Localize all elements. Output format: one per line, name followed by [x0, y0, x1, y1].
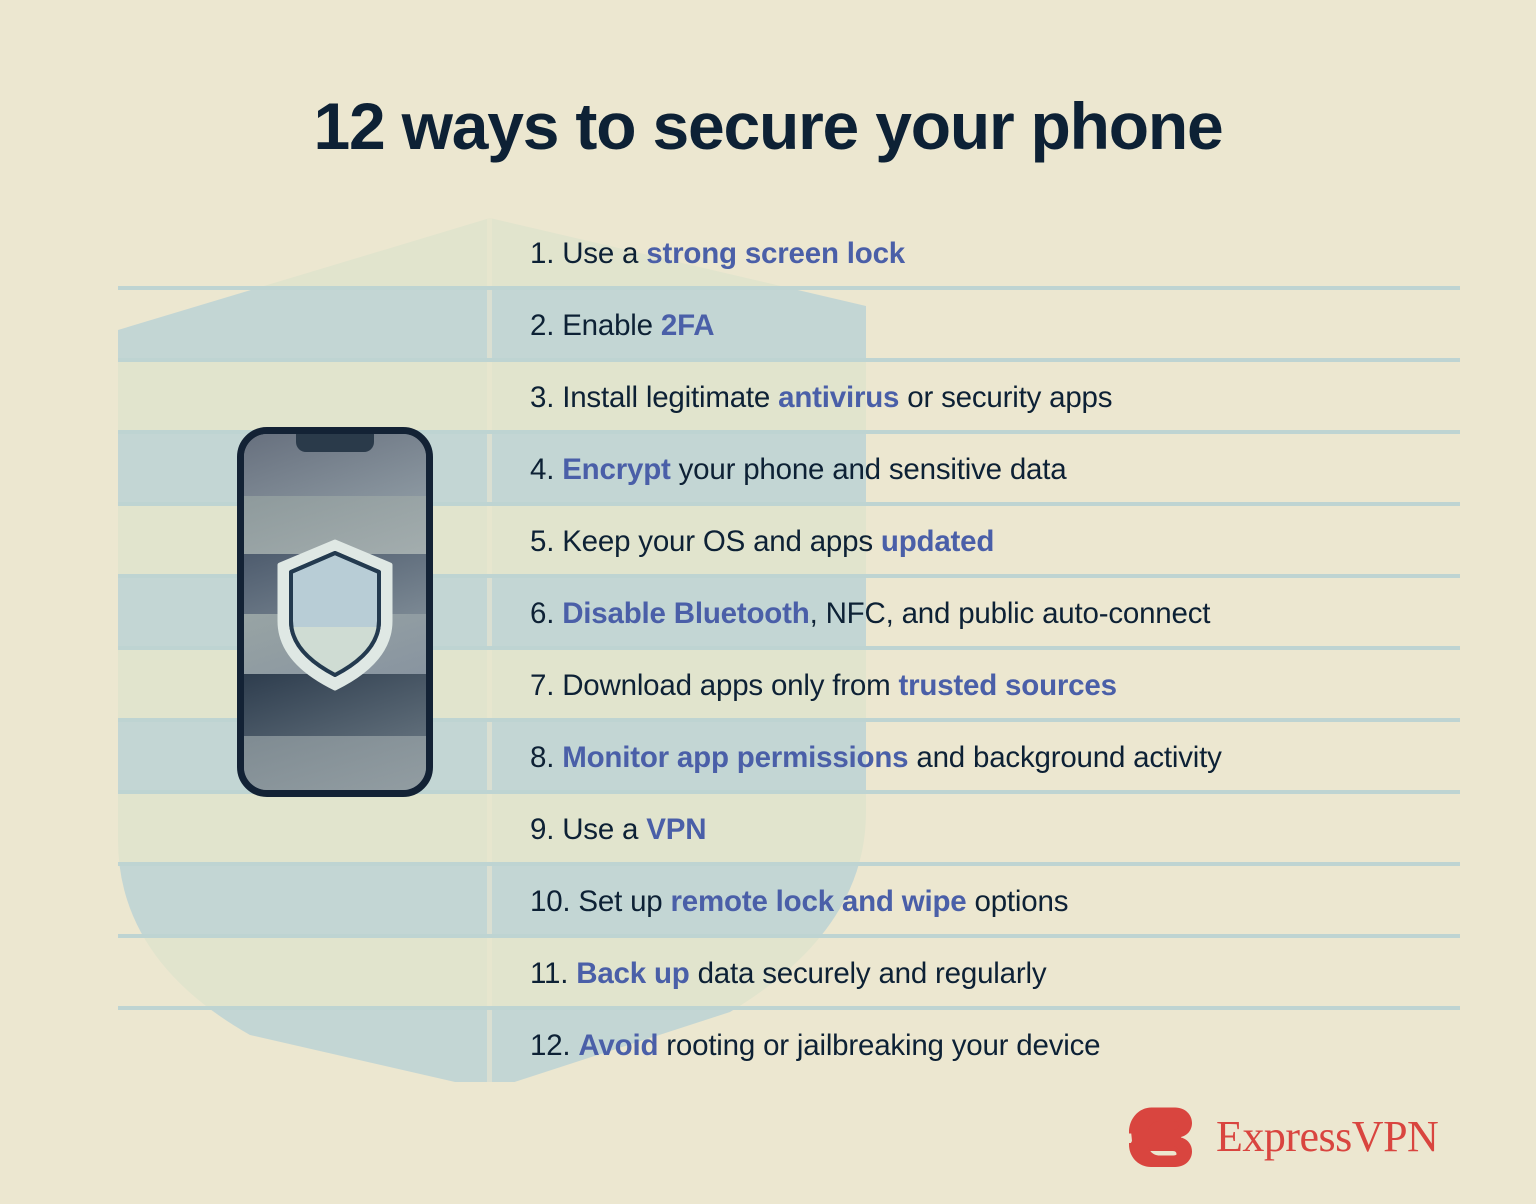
list-item: 8. Monitor app permissions and backgroun… — [530, 722, 1490, 794]
list-item-number: 11. — [530, 957, 568, 991]
list-item-number: 5. — [530, 525, 554, 559]
list-item-text-post: and background activity — [908, 741, 1221, 775]
list-item-text-pre — [570, 1029, 578, 1063]
list-item: 1. Use a strong screen lock — [530, 218, 1490, 290]
list-item-number: 10. — [530, 885, 570, 919]
list-item-keyword: Back up — [576, 957, 689, 991]
list-item-text-pre: Use a — [554, 237, 646, 271]
list-item-text-post: your phone and sensitive data — [671, 453, 1067, 487]
list-item-text-pre — [554, 453, 562, 487]
tips-list: 1. Use a strong screen lock2. Enable 2FA… — [530, 218, 1490, 1082]
list-item-keyword: VPN — [646, 813, 706, 847]
list-item-number: 9. — [530, 813, 554, 847]
list-item-number: 7. — [530, 669, 554, 703]
list-item-text-post: or security apps — [899, 381, 1112, 415]
list-item-keyword: Avoid — [578, 1029, 658, 1063]
list-item-text-pre: Enable — [554, 309, 661, 343]
shield-icon — [274, 539, 396, 691]
list-item: 9. Use a VPN — [530, 794, 1490, 866]
list-item-keyword: antivirus — [778, 381, 899, 415]
list-item-keyword: Monitor app permissions — [562, 741, 908, 775]
list-item-number: 8. — [530, 741, 554, 775]
page-title: 12 ways to secure your phone — [0, 88, 1536, 164]
list-item-keyword: Encrypt — [562, 453, 670, 487]
list-item-number: 2. — [530, 309, 554, 343]
list-item-keyword: 2FA — [661, 309, 715, 343]
list-item-keyword: updated — [881, 525, 994, 559]
list-item-text-pre: Set up — [570, 885, 670, 919]
list-item: 11. Back up data securely and regularly — [530, 938, 1490, 1010]
smartphone-icon — [237, 427, 433, 797]
list-item-text-pre — [554, 597, 562, 631]
list-item-text-pre: Keep your OS and apps — [554, 525, 881, 559]
expressvpn-logo: ExpressVPN — [1128, 1100, 1438, 1174]
list-item-text-post: data securely and regularly — [690, 957, 1047, 991]
list-item-keyword: Disable Bluetooth — [562, 597, 809, 631]
list-item: 2. Enable 2FA — [530, 290, 1490, 362]
list-item-text-post: rooting or jailbreaking your device — [658, 1029, 1100, 1063]
list-item-text-pre — [554, 741, 562, 775]
phone-notch — [296, 434, 374, 452]
list-item-text-pre: Download apps only from — [554, 669, 898, 703]
list-item-number: 12. — [530, 1029, 570, 1063]
list-item-number: 3. — [530, 381, 554, 415]
list-item: 7. Download apps only from trusted sourc… — [530, 650, 1490, 722]
list-item-keyword: trusted sources — [898, 669, 1116, 703]
expressvpn-e-mark-icon — [1128, 1100, 1202, 1174]
list-item: 10. Set up remote lock and wipe options — [530, 866, 1490, 938]
logo-wordmark: ExpressVPN — [1216, 1115, 1438, 1159]
list-item: 6. Disable Bluetooth, NFC, and public au… — [530, 578, 1490, 650]
list-item-text-pre — [568, 957, 576, 991]
list-item-number: 1. — [530, 237, 554, 271]
list-item-number: 6. — [530, 597, 554, 631]
list-item: 3. Install legitimate antivirus or secur… — [530, 362, 1490, 434]
list-item: 4. Encrypt your phone and sensitive data — [530, 434, 1490, 506]
list-item: 12. Avoid rooting or jailbreaking your d… — [530, 1010, 1490, 1082]
list-item-keyword: remote lock and wipe — [671, 885, 967, 919]
list-item-text-pre: Use a — [554, 813, 646, 847]
infographic-canvas: 12 ways to secure your phone 1. Use a st… — [0, 0, 1536, 1204]
list-item-text-post: , NFC, and public auto-connect — [810, 597, 1211, 631]
list-item-number: 4. — [530, 453, 554, 487]
list-item: 5. Keep your OS and apps updated — [530, 506, 1490, 578]
list-item-text-pre: Install legitimate — [554, 381, 778, 415]
list-item-keyword: strong screen lock — [646, 237, 905, 271]
list-item-text-post: options — [967, 885, 1069, 919]
